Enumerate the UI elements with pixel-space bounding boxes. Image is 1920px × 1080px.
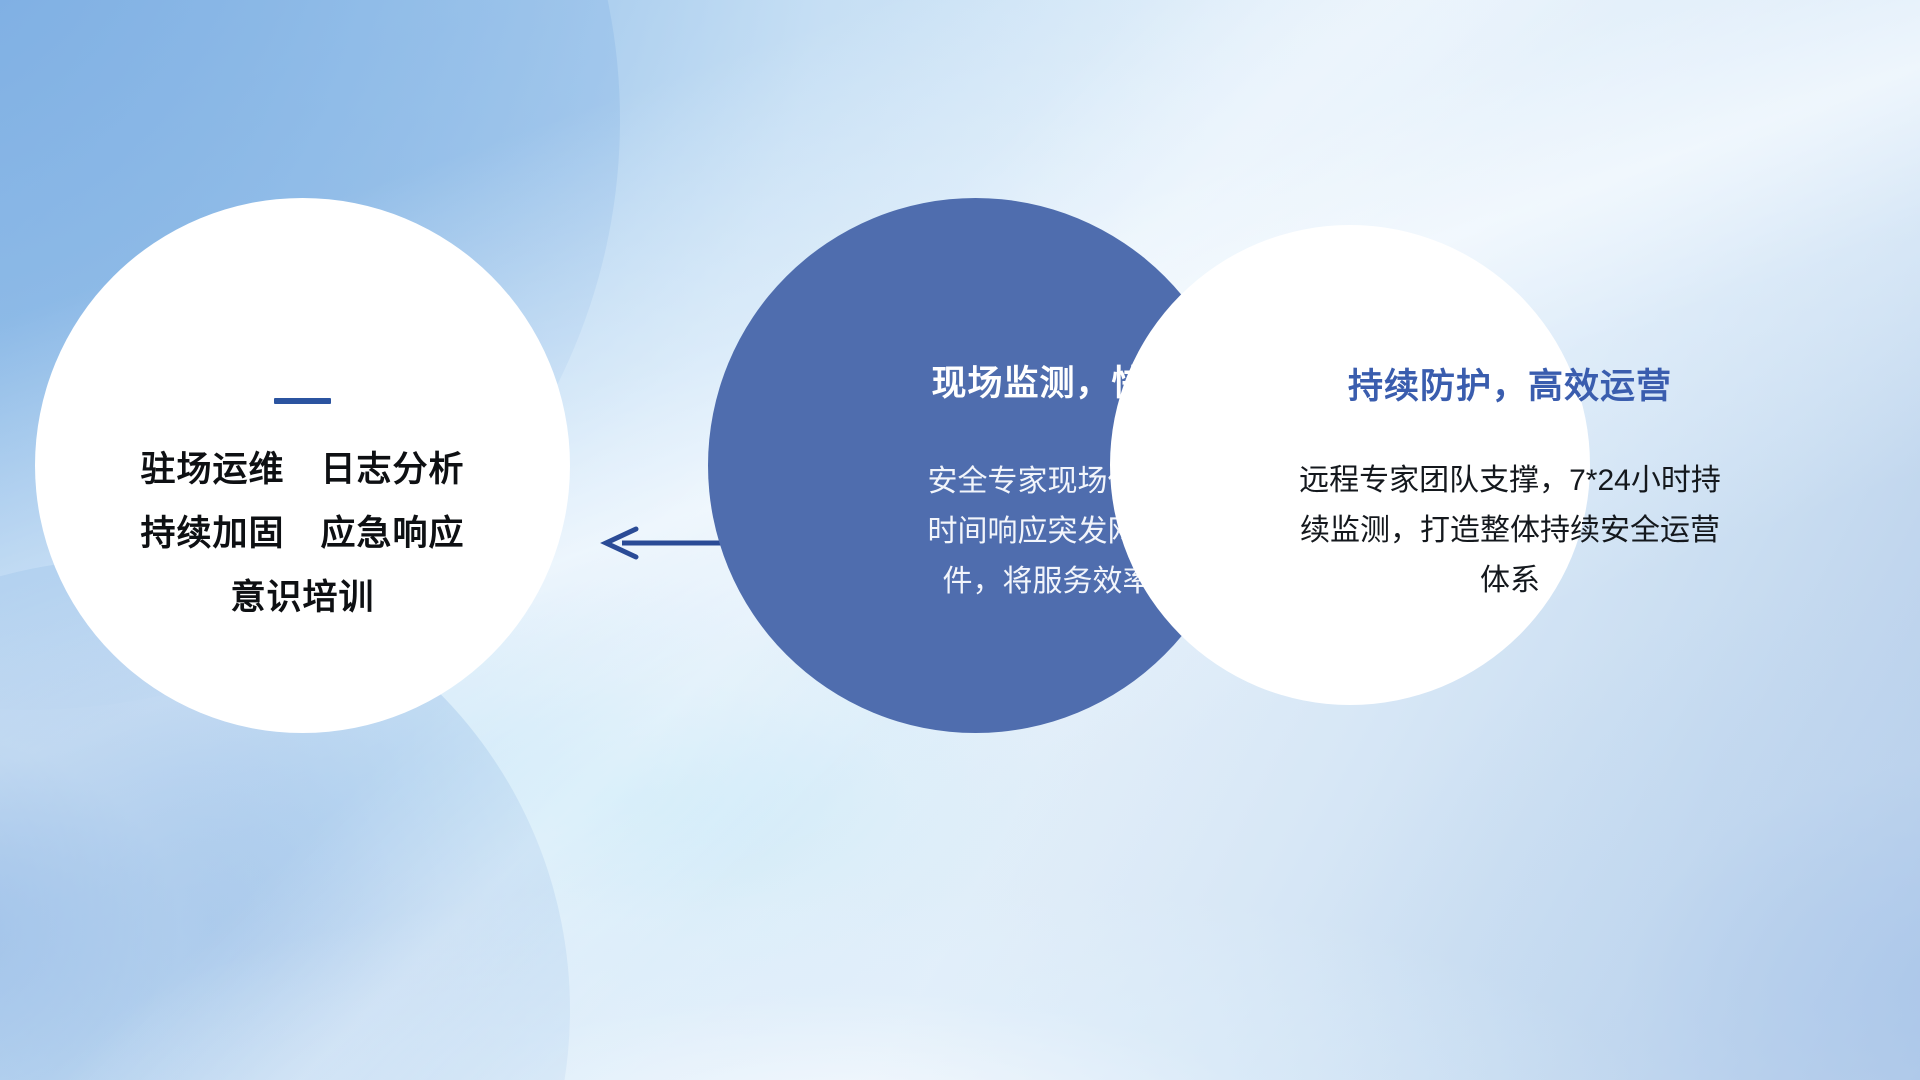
slide-canvas: 驻场运维 日志分析 持续加固 应急响应 意识培训 现场监测，快速响应 安全专家现… (0, 0, 1920, 1080)
remote-description: 远程专家团队支撑，7*24小时持续监测，打造整体持续安全运营体系 (1290, 456, 1730, 606)
skill-row-2: 持续加固 应急响应 (140, 516, 464, 551)
remote-title: 持续防护，高效运营 (1348, 369, 1672, 404)
skill-row-1: 驻场运维 日志分析 (140, 452, 464, 487)
diagram-root: 驻场运维 日志分析 持续加固 应急响应 意识培训 现场监测，快速响应 安全专家现… (0, 0, 1920, 1080)
accent-divider (274, 398, 331, 404)
remote-operations-circle[interactable]: 持续防护，高效运营 远程专家团队支撑，7*24小时持续监测，打造整体持续安全运营… (1110, 225, 1590, 705)
skill-row-3: 意识培训 (230, 580, 374, 615)
skills-circle[interactable]: 驻场运维 日志分析 持续加固 应急响应 意识培训 (35, 198, 570, 733)
